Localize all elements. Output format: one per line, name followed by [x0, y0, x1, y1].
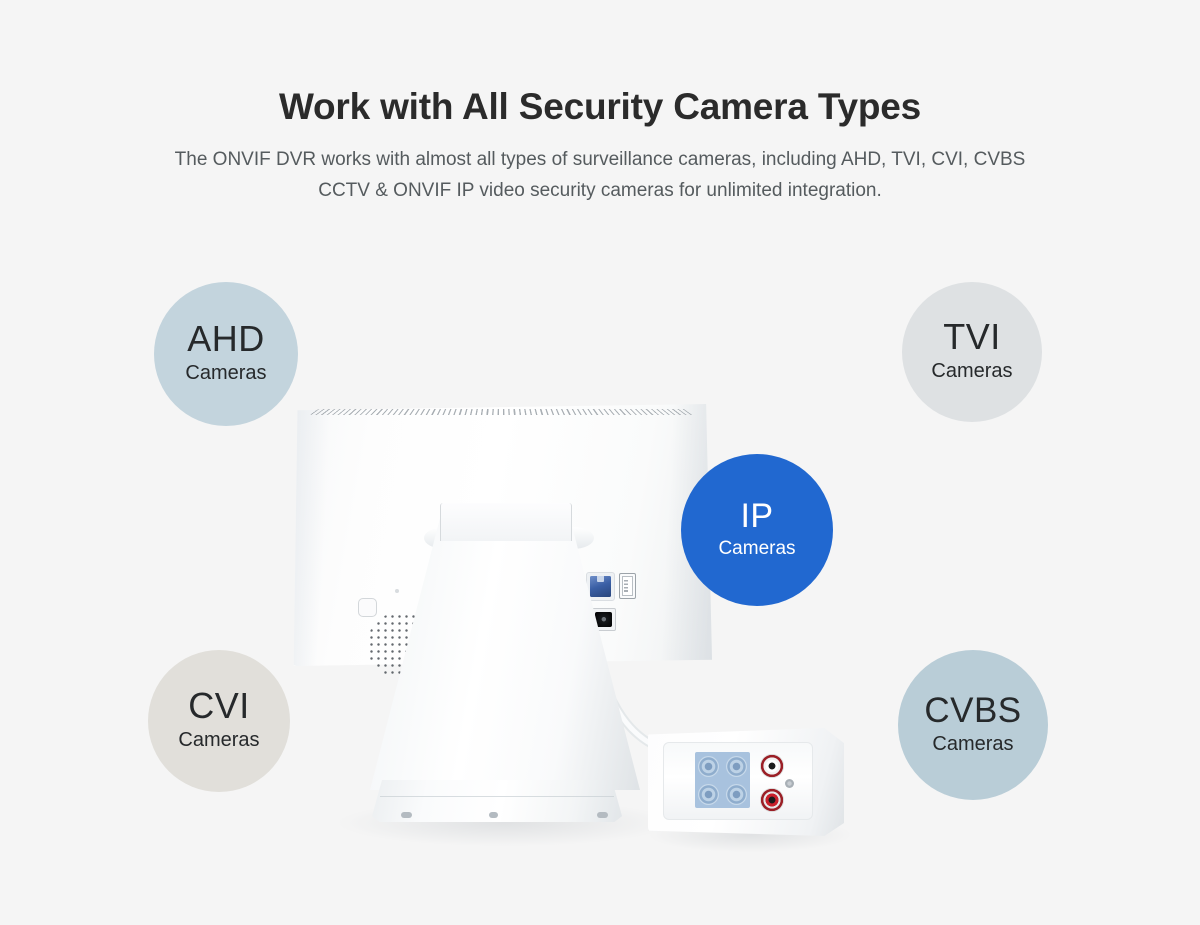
device-illustration — [0, 0, 1200, 925]
dc-jack-icon — [595, 612, 612, 627]
usb-icon — [622, 576, 633, 596]
bnc-connector[interactable] — [726, 756, 747, 777]
bnc-connector[interactable] — [698, 756, 719, 777]
badge-code: IP — [740, 499, 773, 533]
stand-base-seam — [380, 796, 614, 797]
bnc-connector-block[interactable] — [695, 752, 750, 808]
panel-button[interactable] — [358, 598, 377, 617]
status-led-icon — [395, 589, 399, 593]
mount-screw-icon — [785, 779, 794, 788]
bnc-connector[interactable] — [726, 784, 747, 805]
badge-sublabel: Cameras — [718, 536, 795, 562]
bnc-connector[interactable] — [698, 784, 719, 805]
rj45-notch — [597, 576, 605, 582]
ethernet-port[interactable] — [586, 572, 615, 601]
monitor-top-edge — [292, 403, 712, 415]
badge-ip-cameras[interactable]: IP Cameras — [681, 454, 833, 606]
stand-foot — [597, 812, 608, 818]
stand-hinge — [440, 503, 572, 541]
usb-port[interactable] — [619, 573, 636, 599]
stand-foot — [489, 812, 498, 818]
rca-video-jack[interactable] — [760, 754, 784, 778]
ventilation-slots — [309, 409, 695, 415]
stand-foot — [401, 812, 412, 818]
rca-audio-jack[interactable] — [760, 788, 784, 812]
rj45-icon — [590, 576, 611, 597]
